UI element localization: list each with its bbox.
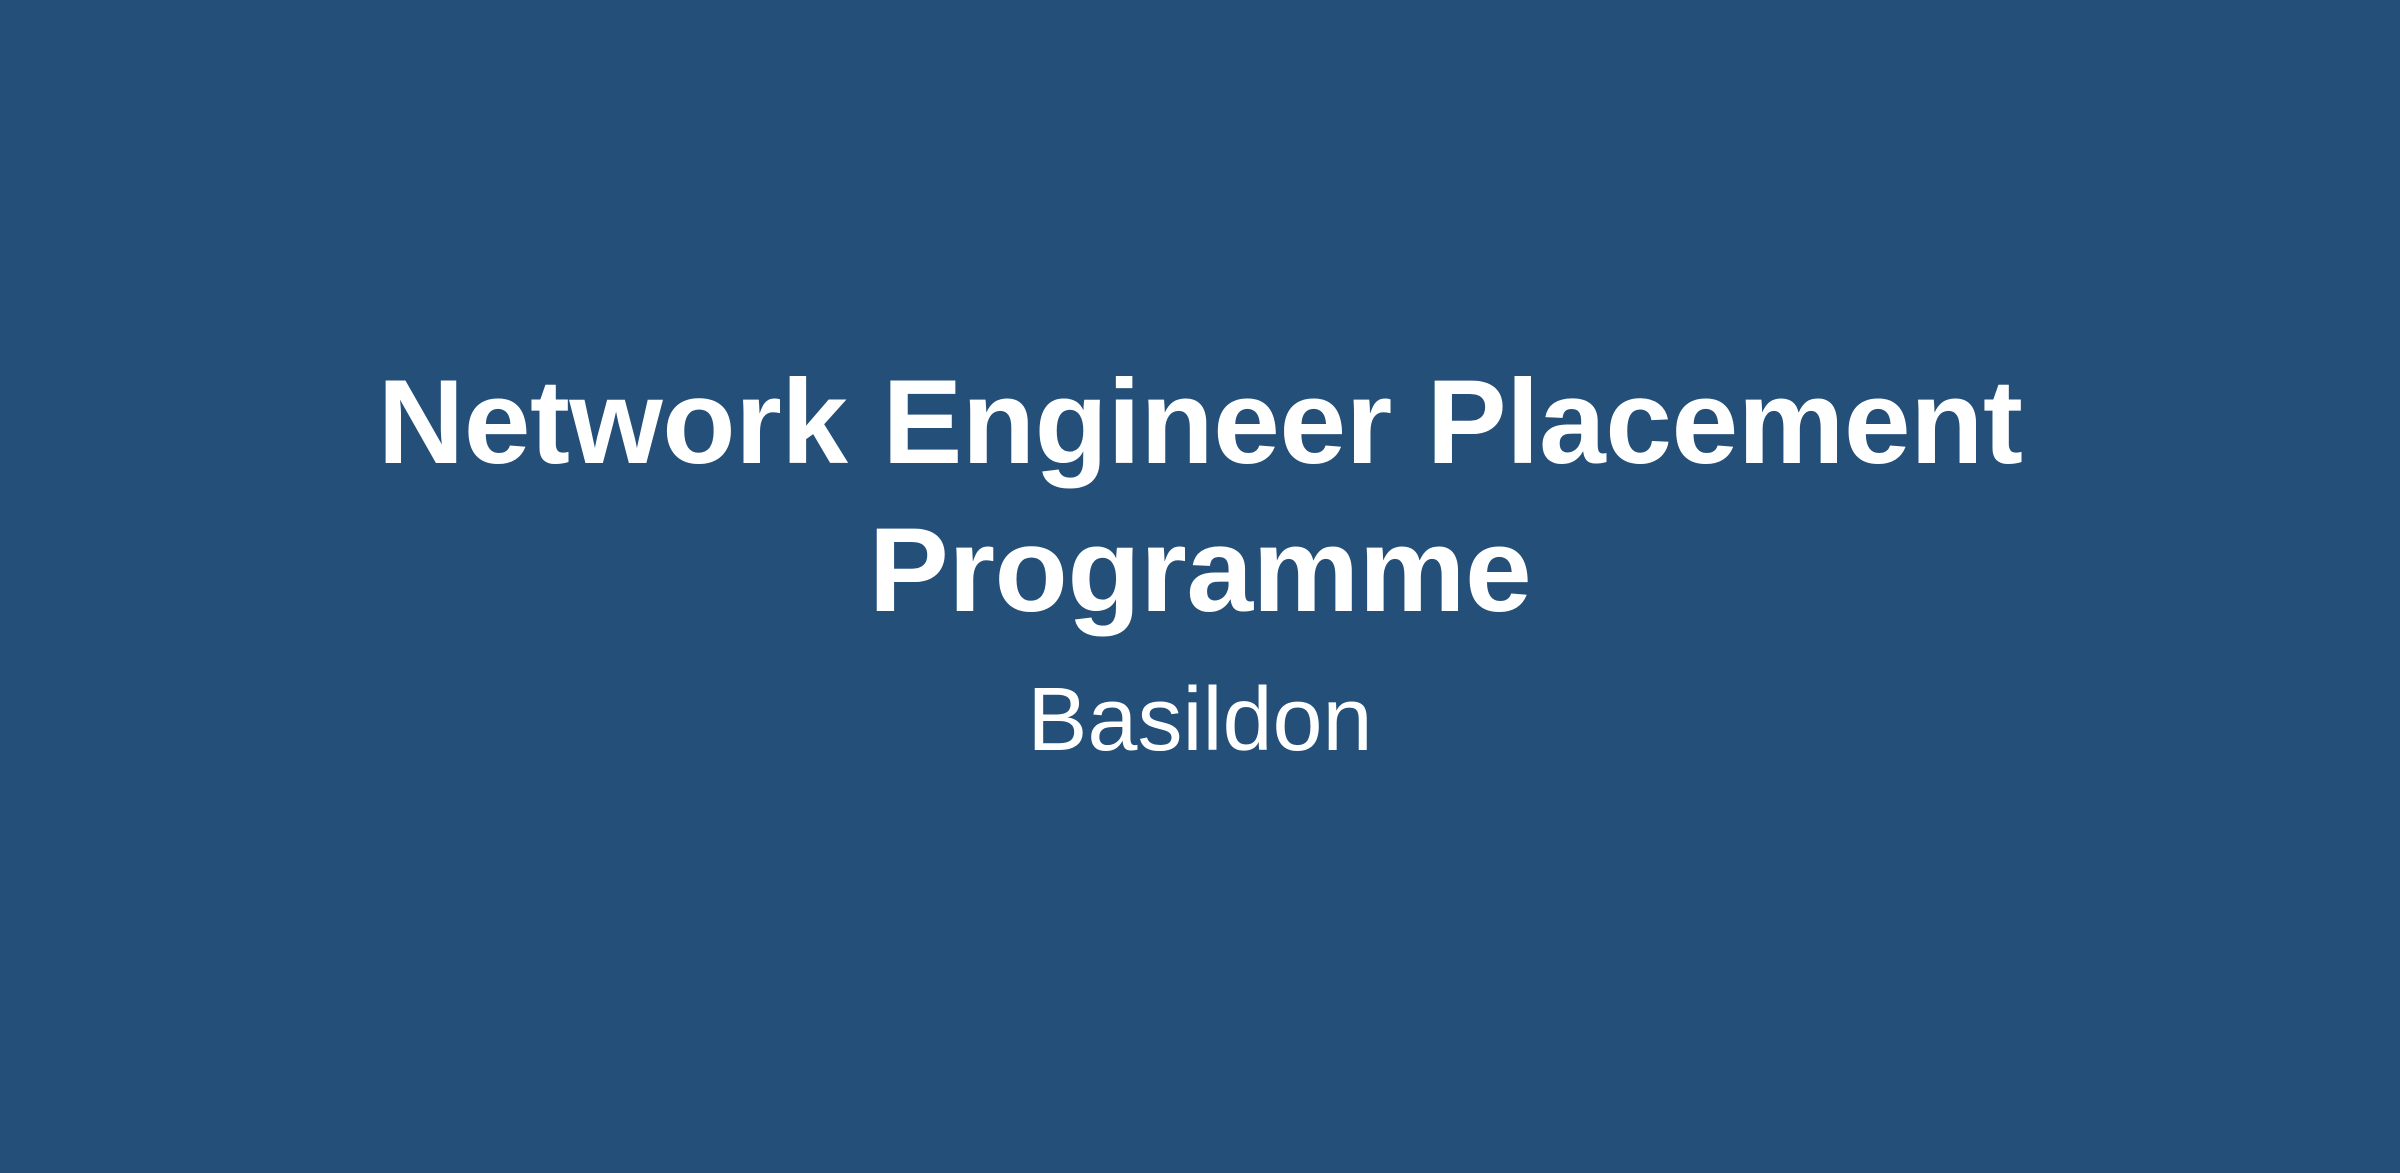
title-block: Network Engineer Placement Programme Bas… [320, 348, 2080, 772]
slide-title: Network Engineer Placement Programme [320, 348, 2080, 644]
slide-canvas: Network Engineer Placement Programme Bas… [0, 0, 2400, 1173]
slide-subtitle: Basildon [320, 668, 2080, 772]
